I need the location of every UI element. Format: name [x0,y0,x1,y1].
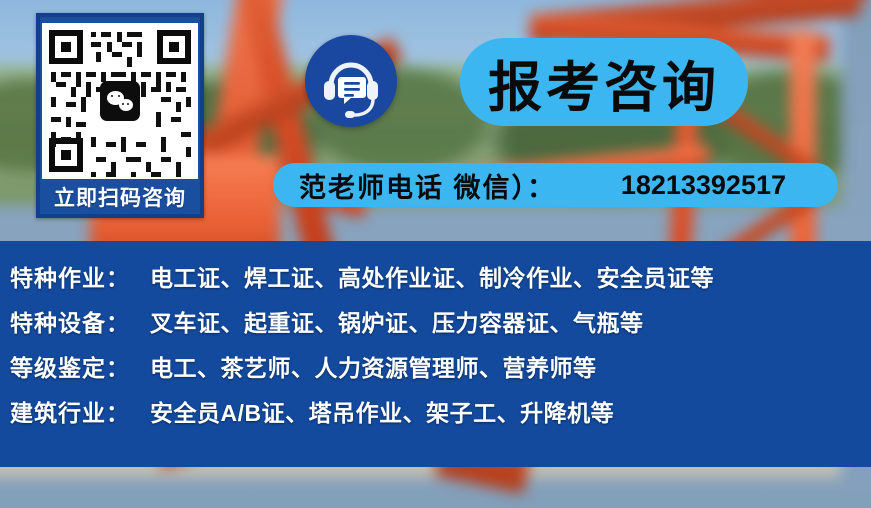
category-value: 叉车证、起重证、锅炉证、压力容器证、气瓶等 [150,304,644,338]
category-label: 特种设备： [10,304,150,338]
list-item: 等级鉴定： 电工、茶艺师、人力资源管理师、营养师等 [10,349,871,394]
contact-phone-number[interactable]: 18213392517 [621,170,812,201]
category-value: 电工证、焊工证、高处作业证、制冷作业、安全员证等 [150,259,714,293]
list-item: 特种作业： 电工证、焊工证、高处作业证、制冷作业、安全员证等 [10,259,871,304]
promo-poster: 立即扫码咨询 报考咨询 范老师电话 微信）： 18213392517 特 [0,0,871,508]
qr-code-image [49,30,191,172]
category-label: 特种作业： [10,259,150,293]
qr-code-frame [42,23,198,179]
list-item: 建筑行业： 安全员A/B证、塔吊作业、架子工、升降机等 [10,394,871,439]
contact-phone-pill[interactable]: 范老师电话 微信）： 18213392517 [273,163,838,207]
course-category-list: 特种作业： 电工证、焊工证、高处作业证、制冷作业、安全员证等 特种设备： 叉车证… [0,241,871,467]
qr-finder-top-left [49,30,83,64]
contact-label: 范老师电话 微信）： [299,166,556,205]
category-label: 建筑行业： [10,394,150,428]
category-label: 等级鉴定： [10,349,150,383]
list-item: 特种设备： 叉车证、起重证、锅炉证、压力容器证、气瓶等 [10,304,871,349]
category-value: 安全员A/B证、塔吊作业、架子工、升降机等 [150,394,614,428]
consultation-title-pill[interactable]: 报考咨询 [460,38,748,126]
qr-code-card[interactable]: 立即扫码咨询 [36,13,204,218]
qr-finder-top-right [157,30,191,64]
wechat-icon [100,81,140,121]
qr-card-caption: 立即扫码咨询 [46,179,194,214]
category-value: 电工、茶艺师、人力资源管理师、营养师等 [150,349,597,383]
headset-chat-icon[interactable] [305,35,397,127]
consultation-title-label: 报考咨询 [488,43,720,122]
